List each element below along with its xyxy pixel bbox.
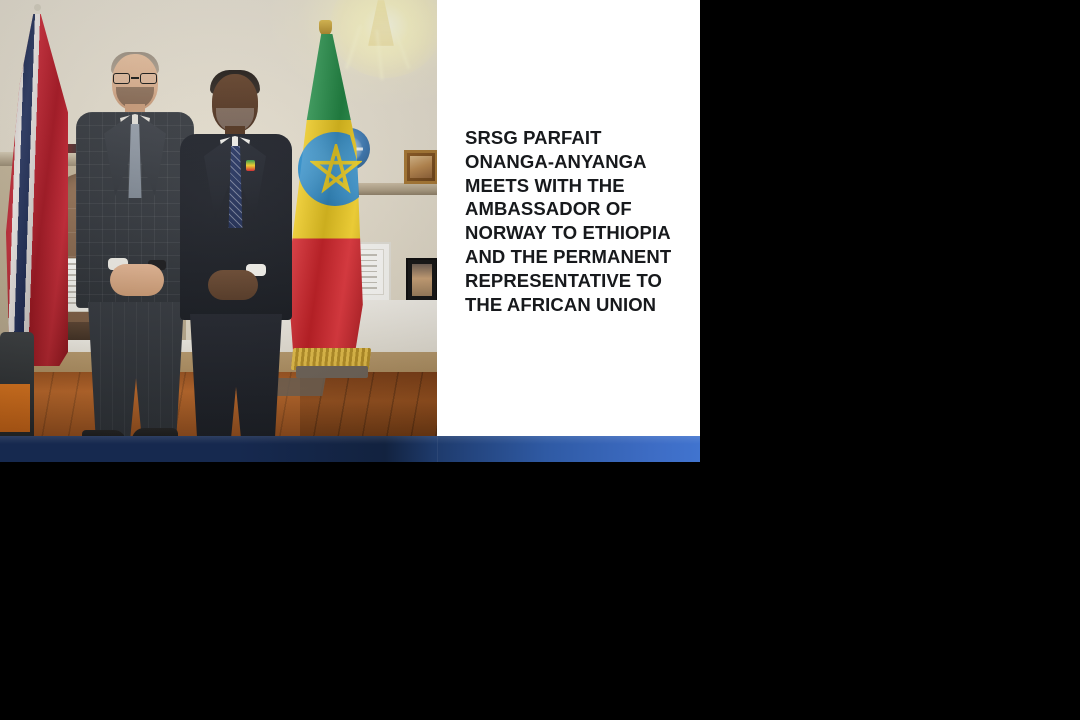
meeting-photograph (0, 0, 437, 436)
blue-footer-band (0, 436, 700, 462)
framed-picture-gold (404, 150, 437, 184)
lapel-flag-pin-icon (246, 160, 255, 171)
headline-panel: SRSG PARFAIT ONANGA-ANYANGA MEETS WITH T… (437, 0, 700, 436)
framed-photo-dark (406, 258, 437, 302)
clasped-hands (208, 270, 258, 300)
person-srsg-parfait-onanga-anyanga (180, 74, 292, 436)
trousers (190, 314, 282, 436)
headline-text: SRSG PARFAIT ONANGA-ANYANGA MEETS WITH T… (465, 126, 680, 316)
ethiopia-flag-folds (286, 34, 366, 364)
ethiopia-flag-icon (286, 28, 366, 388)
band-sheen (0, 436, 700, 444)
flag-pole-finial (34, 4, 41, 11)
dress-shoe-right (132, 428, 178, 436)
norway-flag-folds (6, 14, 68, 366)
norway-flag-icon (6, 14, 68, 366)
band-seam (437, 436, 438, 462)
clasped-hands (110, 264, 164, 296)
trousers (88, 302, 184, 436)
screen-canvas: SRSG PARFAIT ONANGA-ANYANGA MEETS WITH T… (0, 0, 1080, 720)
eyeglasses-icon (112, 73, 158, 84)
flag-pole-finial (319, 20, 332, 36)
person-ambassador-of-norway (76, 54, 194, 436)
flag-stand-base (296, 366, 368, 378)
news-card: SRSG PARFAIT ONANGA-ANYANGA MEETS WITH T… (0, 0, 700, 462)
chair (0, 332, 34, 436)
